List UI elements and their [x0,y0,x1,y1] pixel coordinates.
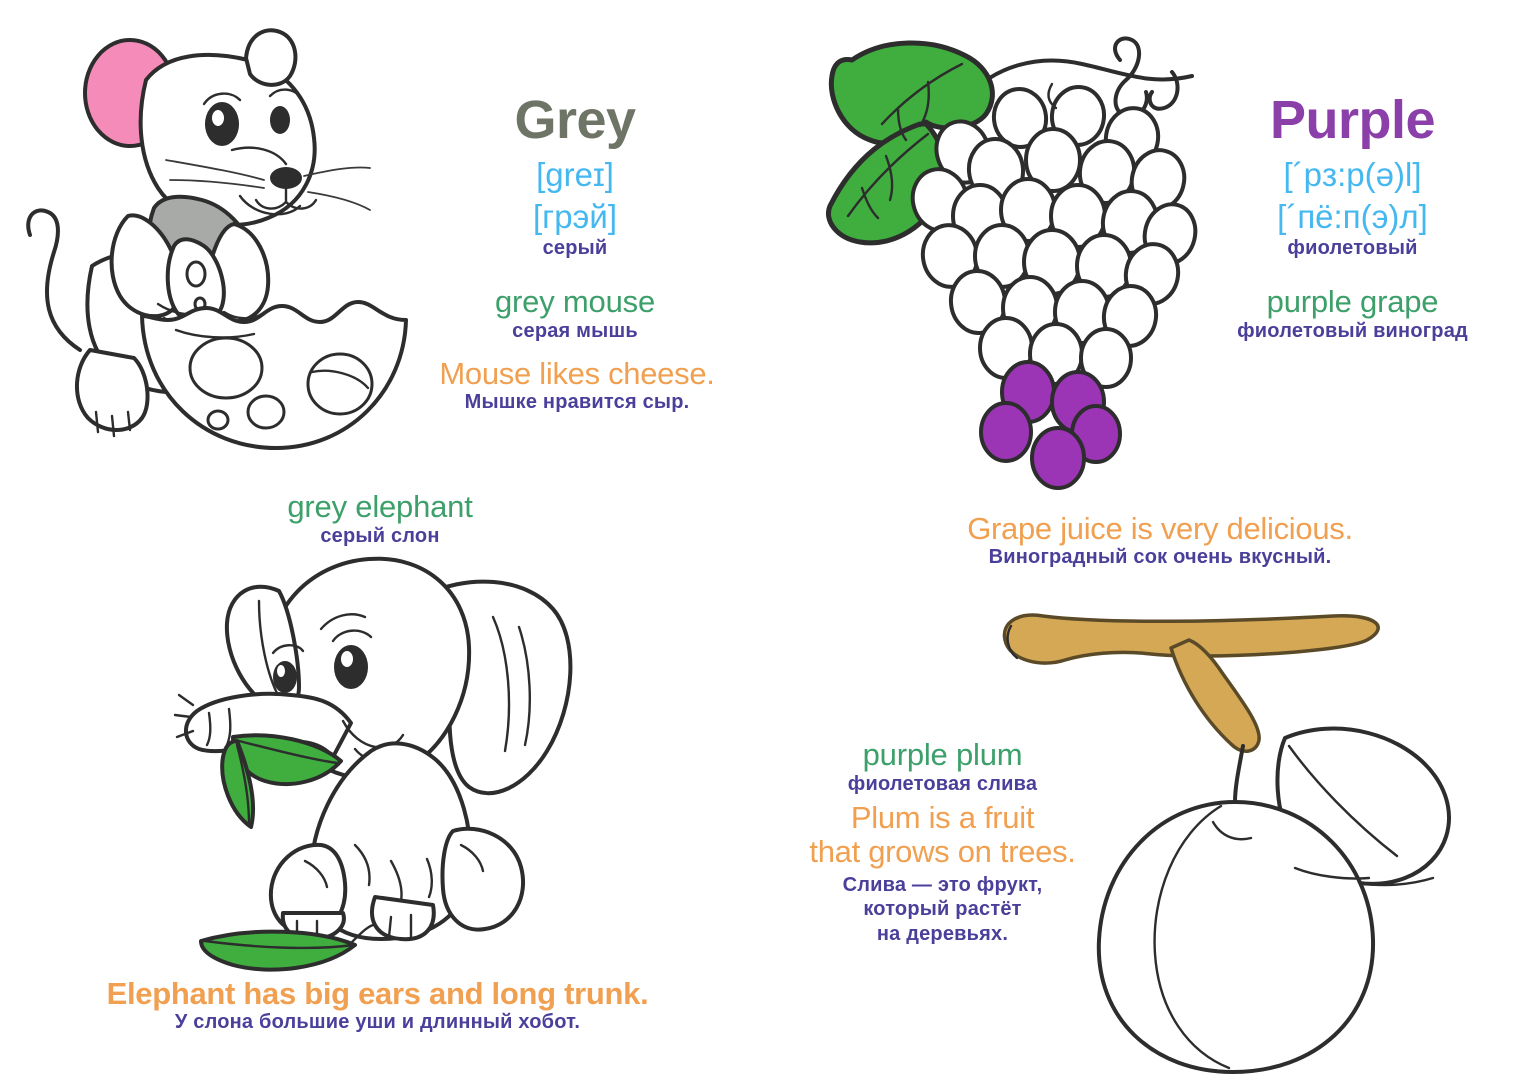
grey-word-block: Grey [greɪ] [грэй] серый [400,90,750,259]
purple-phonetic-russian: [´пё:п(э)л] [1180,196,1525,237]
grape-bunch-illustration [820,20,1220,500]
grey-elephant-english: grey elephant [245,490,515,525]
plum-sentence-english-line2: that grows on trees. [800,835,1085,868]
grape-sentence-russian: Виноградный сок очень вкусный. [930,545,1390,569]
purple-plum-text-block: purple plum фиолетовая слива Plum is a f… [800,738,1085,946]
elephant-with-leaf-illustration [175,545,595,975]
purple-plum-english: purple plum [800,738,1085,773]
grape-sentence-english: Grape juice is very delicious. [930,512,1390,545]
grey-headword: Grey [400,90,750,150]
grey-elephant-russian: серый слон [245,525,515,547]
purple-grape-phrase-block: purple grape фиолетовый виноград [1180,272,1525,342]
purple-translation: фиолетовый [1180,237,1525,259]
grey-mouse-english: grey mouse [400,285,750,320]
mouse-sentence-block: Mouse likes cheese. Мышке нравится сыр. [392,345,762,415]
grey-phonetic-english: [greɪ] [400,154,750,195]
mouse-sentence-russian: Мышке нравится сыр. [392,390,762,414]
elephant-sentence-russian: У слона большие уши и длинный хобот. [70,1010,685,1034]
mouse-sentence-english: Mouse likes cheese. [392,357,762,390]
purple-word-block: Purple [´pз:p(ə)l] [´пё:п(э)л] фиолетовы… [1180,90,1525,259]
purple-phonetic-english: [´pз:p(ə)l] [1180,154,1525,195]
grey-mouse-phrase-block: grey mouse серая мышь [400,272,750,342]
grape-sentence-block: Grape juice is very delicious. Виноградн… [930,500,1390,570]
purple-grape-russian: фиолетовый виноград [1180,320,1525,342]
grey-mouse-russian: серая мышь [400,320,750,342]
plum-sentence-russian-line1: Слива — это фрукт, [800,873,1085,897]
purple-plum-russian: фиолетовая слива [800,773,1085,795]
elephant-sentence-english: Elephant has big ears and long trunk. [70,977,685,1010]
grey-translation: серый [400,237,750,259]
purple-headword: Purple [1180,90,1525,150]
plum-sentence-russian-line2: который растёт [800,897,1085,921]
mouse-with-cheese-illustration [18,20,418,460]
plum-sentence-english-line1: Plum is a fruit [800,801,1085,834]
worksheet-page: Grey [greɪ] [грэй] серый grey mouse сера… [0,0,1525,1080]
grey-phonetic-russian: [грэй] [400,196,750,237]
plum-sentence-russian-line3: на деревьях. [800,922,1085,946]
purple-grape-english: purple grape [1180,285,1525,320]
grey-elephant-phrase-block: grey elephant серый слон [245,490,515,547]
elephant-sentence-block: Elephant has big ears and long trunk. У … [70,977,685,1035]
